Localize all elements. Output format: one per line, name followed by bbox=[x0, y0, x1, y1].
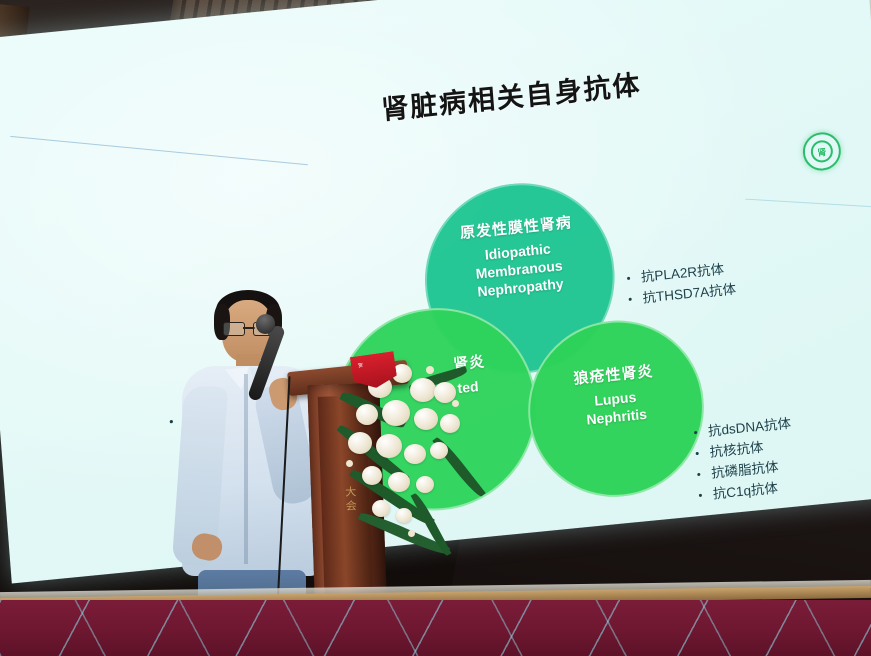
circle-label-en: Lupus Nephritis bbox=[584, 387, 647, 429]
flower-bloom bbox=[382, 400, 410, 426]
logo-glyph: 肾 bbox=[810, 139, 834, 163]
flower-bloom bbox=[372, 500, 390, 517]
flower-bloom bbox=[410, 378, 436, 402]
flower-bloom bbox=[396, 508, 412, 523]
flower-bud bbox=[408, 530, 415, 537]
circle-label-cn: 狼疮性肾炎 bbox=[573, 363, 654, 390]
flower-bud bbox=[426, 366, 434, 374]
shirt-placket bbox=[244, 374, 248, 564]
decorative-line bbox=[745, 199, 871, 210]
bullets-membranous: 抗PLA2R抗体 抗THSD7A抗体 bbox=[624, 259, 736, 311]
flower-bloom bbox=[440, 414, 460, 433]
conference-photo: 肾脏病相关自身抗体 肾 原发性膜性肾病 Idiopathic Membranou… bbox=[0, 0, 871, 656]
flower-bloom bbox=[348, 432, 372, 454]
decorative-line bbox=[10, 136, 308, 165]
circle-label-en: Idiopathic Membranous Nephropathy bbox=[474, 238, 565, 301]
flower-bloom bbox=[430, 442, 448, 459]
flower-bud bbox=[346, 460, 353, 467]
bullets-lupus: 抗dsDNA抗体 抗核抗体 抗磷脂抗体 抗C1q抗体 bbox=[691, 414, 796, 507]
carpet-floor bbox=[0, 600, 871, 656]
organization-logo: 肾 bbox=[802, 131, 843, 173]
floral-arrangement: 贺 bbox=[338, 352, 498, 572]
slide-title: 肾脏病相关自身抗体 bbox=[380, 63, 643, 127]
flower-bloom bbox=[362, 466, 382, 485]
flower-bloom bbox=[404, 444, 426, 464]
lens-left bbox=[223, 322, 245, 336]
flower-bud bbox=[452, 400, 459, 407]
flower-bloom bbox=[414, 408, 438, 430]
flower-bloom bbox=[416, 476, 434, 493]
flower-bloom bbox=[356, 404, 378, 425]
flower-bloom bbox=[376, 434, 402, 458]
flower-bloom bbox=[388, 472, 410, 492]
ribbon-text: 贺 bbox=[358, 362, 365, 370]
